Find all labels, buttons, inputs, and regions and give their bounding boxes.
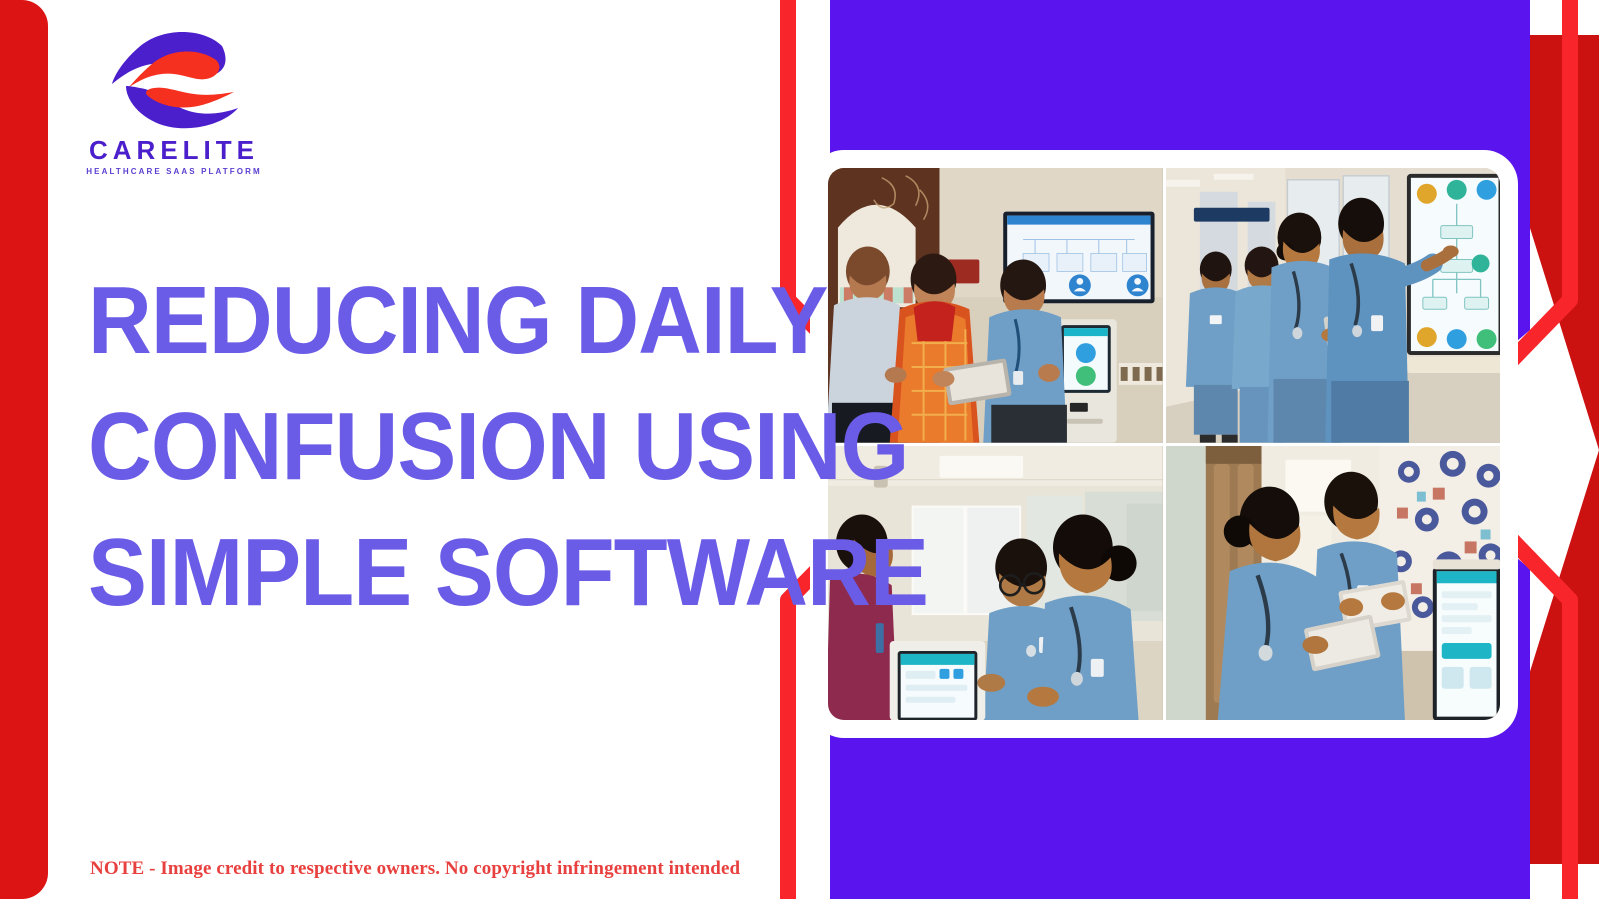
photo-bottom-right	[1166, 446, 1501, 721]
headline-line-2: CONFUSION USING	[88, 384, 732, 510]
brand-logo[interactable]: CARELITE HEALTHCARE SAAS PLATFORM	[64, 26, 284, 176]
left-red-bar	[0, 0, 48, 899]
photo-grid: 8	[828, 168, 1500, 720]
brand-name: CARELITE	[64, 137, 284, 163]
photo-top-right	[1166, 168, 1501, 443]
headline-line-1: REDUCING DAILY	[88, 258, 732, 384]
headline-line-3: SIMPLE SOFTWARE	[88, 510, 732, 636]
image-credit-note: NOTE - Image credit to respective owners…	[90, 858, 740, 880]
carelite-c-logo-icon	[104, 26, 244, 131]
brand-tagline: HEALTHCARE SAAS PLATFORM	[64, 168, 284, 176]
page-title: REDUCING DAILY CONFUSION USING SIMPLE SO…	[88, 258, 788, 636]
poster-canvas: 8	[0, 0, 1599, 899]
